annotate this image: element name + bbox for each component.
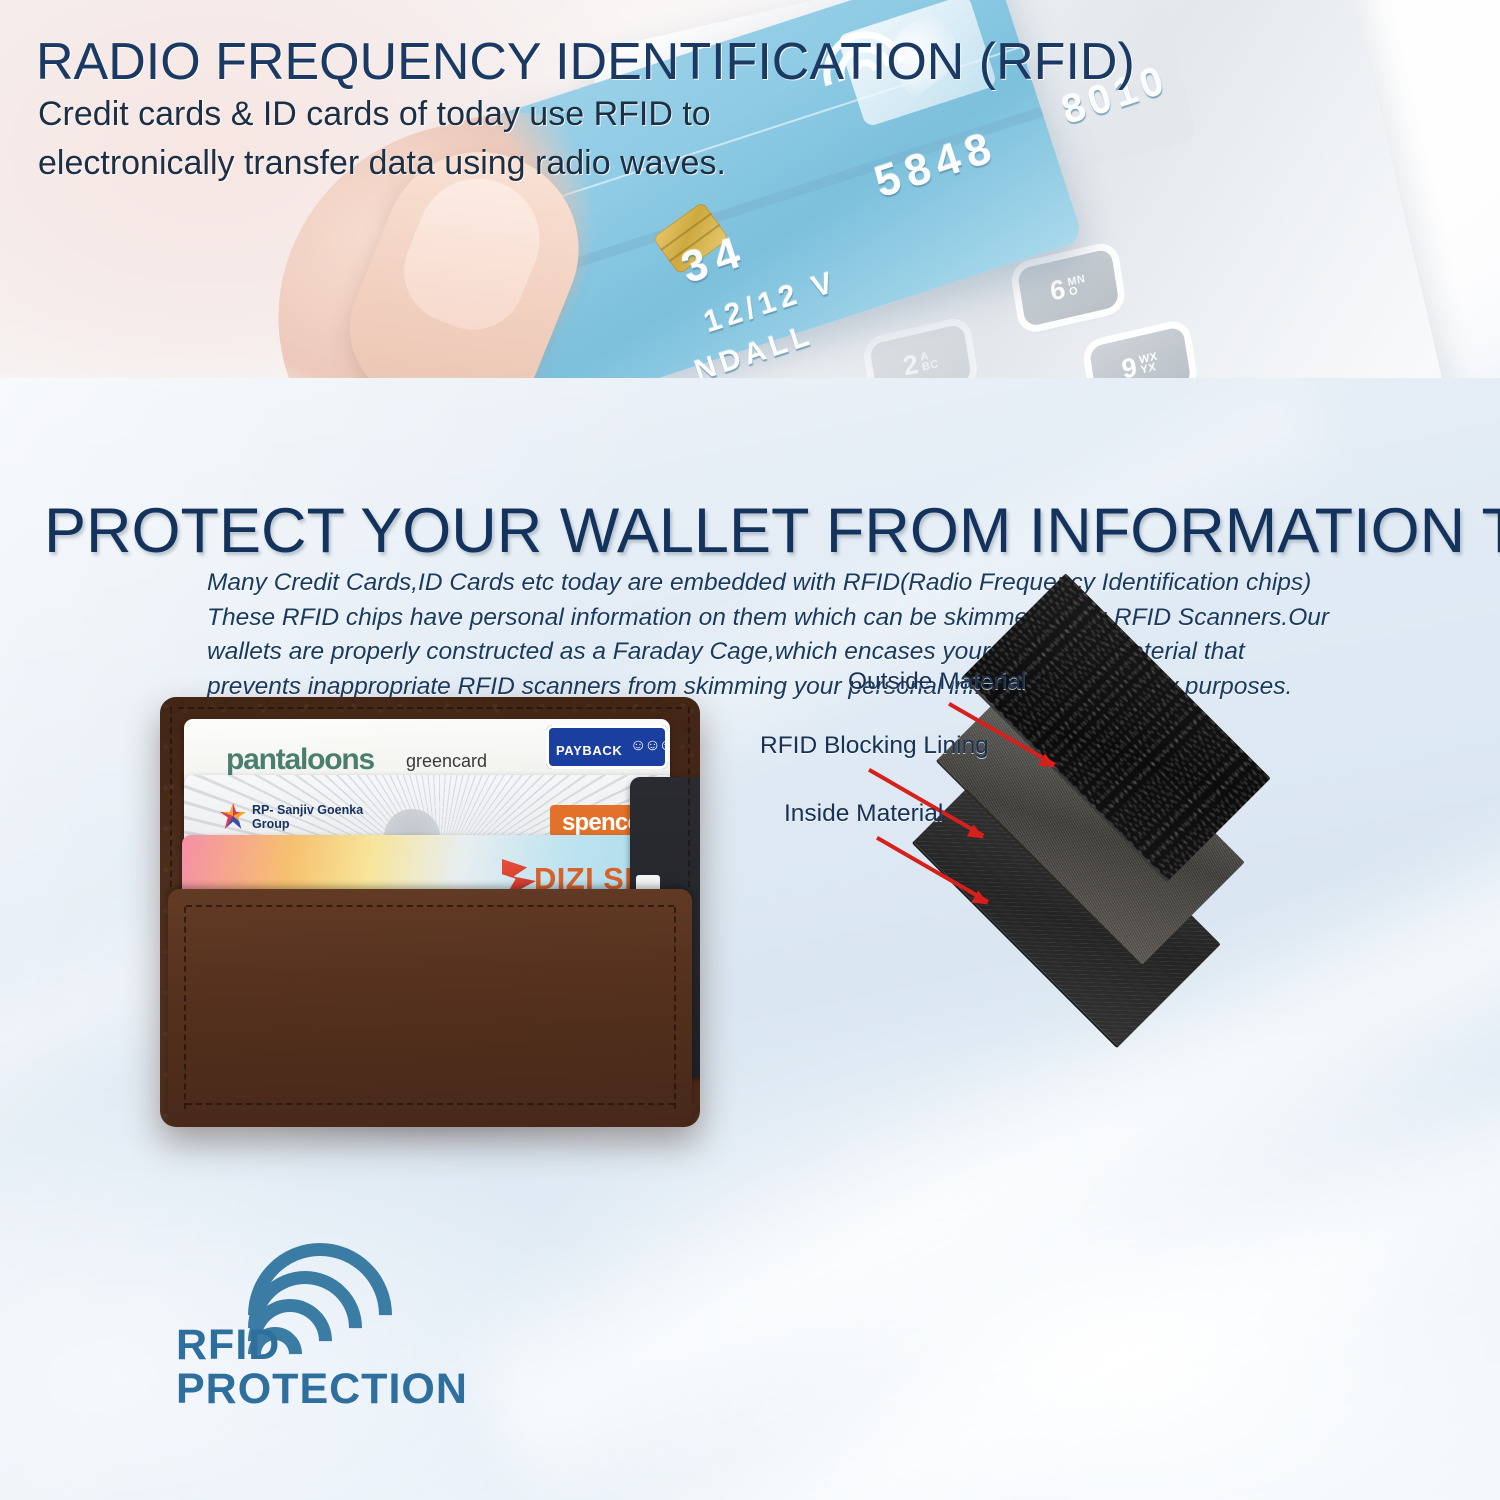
stitching-right bbox=[688, 707, 690, 887]
material-layers-diagram: Outside Material RFID Blocking Lining In… bbox=[760, 660, 1320, 960]
header-title: RADIO FREQUENCY IDENTIFICATION (RFID) bbox=[36, 32, 1135, 92]
logo-line-2: PROTECTION bbox=[176, 1365, 468, 1414]
payback-label: PAYBACK bbox=[556, 743, 622, 758]
stitching bbox=[186, 1103, 674, 1105]
main-heading: PROTECT YOUR WALLET FROM INFORMATION THE… bbox=[44, 495, 1484, 567]
label-rfid-blocking-lining: RFID Blocking Lining bbox=[760, 732, 989, 760]
card-brand-label: RP- Sanjiv Goenka bbox=[252, 803, 363, 817]
wallet-front-pocket bbox=[168, 889, 692, 1127]
label-inside-material: Inside Material bbox=[784, 800, 943, 828]
wallet-body: pantaloons greencard PAYBACK ☺☺☺ RP- San… bbox=[160, 697, 700, 1127]
payback-people-icon: ☺☺☺ bbox=[630, 737, 670, 755]
key-letters: WX YX bbox=[1138, 351, 1159, 375]
wallet-product-photo: pantaloons greencard PAYBACK ☺☺☺ RP- San… bbox=[150, 697, 710, 1147]
card-brand-label-2: Group bbox=[252, 817, 290, 831]
logo-line-1: RFID bbox=[176, 1321, 280, 1370]
header-subtitle-line1: Credit cards & ID cards of today use RFI… bbox=[38, 90, 726, 139]
key-letters: MN O bbox=[1067, 274, 1088, 298]
header-subtitle: Credit cards & ID cards of today use RFI… bbox=[38, 90, 726, 188]
stitching bbox=[186, 905, 674, 907]
header-subtitle-line2: electronically transfer data using radio… bbox=[38, 139, 726, 188]
label-outside-material: Outside Material bbox=[848, 668, 1026, 696]
key-digit: 6 bbox=[1048, 273, 1068, 307]
stitching-vertical bbox=[674, 907, 676, 1109]
card-number-part2: 5848 bbox=[869, 122, 1004, 208]
card-sub-label: greencard bbox=[406, 751, 487, 772]
card-brand-label: pantaloons bbox=[226, 743, 374, 777]
rfid-protection-logo: RFID PROTECTION bbox=[176, 1253, 446, 1413]
stitching-left bbox=[170, 707, 172, 887]
infographic-page: 1 Q Z 2 A BC 5 JK LK bbox=[0, 0, 1500, 1500]
stitching-vertical bbox=[184, 907, 186, 1109]
key-letters: A BC bbox=[920, 349, 940, 373]
stitching-top bbox=[178, 707, 682, 709]
